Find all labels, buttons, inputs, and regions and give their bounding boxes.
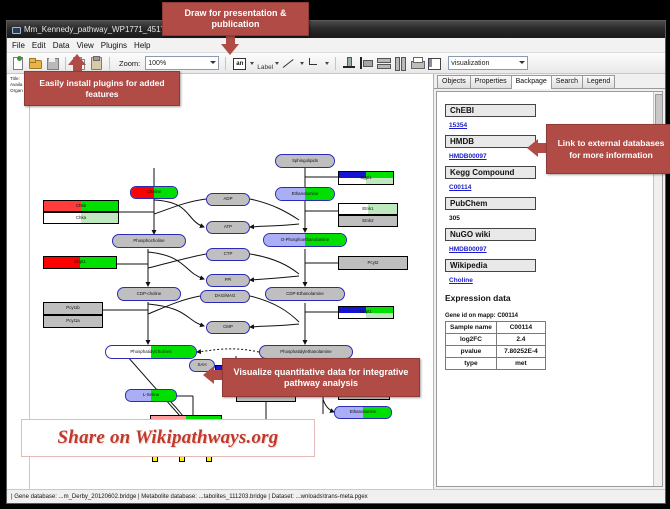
label-glyph: Label: [257, 64, 273, 71]
line-icon[interactable]: [282, 56, 296, 70]
node-label: Etnk1: [362, 207, 373, 211]
print-icon[interactable]: [410, 56, 424, 70]
menu-view[interactable]: View: [77, 41, 94, 50]
metabolite-node: Ethanolamine: [275, 187, 335, 201]
gene-node: Cept1: [338, 306, 394, 319]
gene-node: Etnk2: [338, 215, 398, 227]
save-icon[interactable]: [45, 56, 59, 70]
callout-text: Visualize quantitative data for integrat…: [228, 367, 414, 389]
menu-edit[interactable]: Edit: [32, 41, 46, 50]
db-link-nugo[interactable]: HMDB00097: [449, 246, 646, 253]
annotation-glyph: an: [233, 58, 246, 70]
metabolite-node: PPi: [206, 274, 250, 287]
menu-data[interactable]: Data: [53, 41, 70, 50]
gene-node: Chkb: [43, 200, 119, 212]
db-link-kegg[interactable]: C00114: [449, 184, 646, 191]
node-label: L-Serine: [143, 393, 160, 397]
node-label: Pcyt2: [368, 261, 379, 265]
node-label: DAG/MAG: [215, 294, 236, 298]
node-label: CMP: [223, 325, 233, 329]
chevron-down-icon[interactable]: [325, 62, 329, 65]
expr-value: C00114: [496, 322, 545, 334]
node-label: Cept1: [360, 310, 372, 314]
toggle-sidebar-icon[interactable]: [427, 56, 441, 70]
metabolite-node: Ethanolamine: [334, 406, 392, 419]
menu-help[interactable]: Help: [134, 41, 150, 50]
callout-text: Link to external databases for more info…: [551, 137, 670, 161]
callout-text: Share on Wikipathways.org: [58, 427, 279, 449]
node-label: CDP-choline: [137, 292, 162, 296]
node-label: Ethanolamine: [350, 410, 377, 414]
expression-table: Sample name C00114 log2FC 2.4 pvalue 7.8…: [445, 321, 546, 370]
callout-text: Draw for presentation & publication: [167, 8, 304, 30]
gene-node: Chpt1: [43, 256, 117, 269]
node-label: Ethanolamine: [292, 192, 319, 196]
tab-search[interactable]: Search: [551, 75, 583, 88]
expr-key: pvalue: [446, 346, 497, 358]
chevron-down-icon[interactable]: [300, 62, 304, 65]
label-icon[interactable]: Label: [257, 56, 271, 70]
tab-properties[interactable]: Properties: [470, 75, 512, 88]
callout-draw: Draw for presentation & publication: [162, 2, 309, 36]
db-header-chebi: ChEBI: [445, 104, 536, 117]
expression-data-header: Expression data: [445, 293, 646, 303]
screenshot-root: Mm_Kennedy_pathway_WP1771_45176.gpml Fil…: [0, 0, 670, 509]
metabolite-node: CDP-Ethanolamine: [265, 287, 345, 301]
tab-legend[interactable]: Legend: [582, 75, 615, 88]
node-label: Choline: [147, 190, 162, 194]
node-label: ATP: [224, 225, 232, 229]
node-label: CDP-Ethanolamine: [286, 292, 324, 296]
align-bottom-icon[interactable]: [342, 56, 356, 70]
callout-share: Share on Wikipathways.org: [21, 419, 315, 457]
table-row: pvalue 7.80252E-4: [446, 346, 546, 358]
db-header-hmdb: HMDB: [445, 135, 536, 148]
toolbar-separator: [109, 57, 110, 70]
node-label: Phosphatidylcholines: [130, 350, 171, 354]
table-row: Sample name C00114: [446, 322, 546, 334]
app-icon: [11, 25, 20, 34]
title-bar: Mm_Kennedy_pathway_WP1771_45176.gpml: [7, 21, 665, 38]
node-label: CTP: [224, 252, 233, 256]
toolbar-separator: [335, 57, 336, 70]
gene-node: Sgpl1: [338, 171, 394, 185]
node-label: Chka: [76, 216, 86, 220]
visualization-combo[interactable]: visualization: [448, 56, 528, 70]
expr-value: met: [496, 358, 545, 370]
menu-bar: File Edit Data View Plugins Help: [7, 38, 665, 53]
node-label: Pcyt1a: [66, 319, 79, 323]
elbow-connector-icon[interactable]: [307, 56, 321, 70]
callout-visualize: Visualize quantitative data for integrat…: [222, 358, 420, 397]
zoom-label: Zoom:: [119, 59, 140, 68]
toolbar-separator: [225, 57, 226, 70]
pathway-info-block: Title: Availa Organ: [10, 76, 23, 94]
chevron-down-icon: [519, 61, 525, 64]
callout-draw-pointer: [221, 44, 239, 55]
gene-node: Etnk1: [338, 203, 398, 215]
table-row: type met: [446, 358, 546, 370]
annotation-icon[interactable]: an: [232, 56, 246, 70]
menu-plugins[interactable]: Plugins: [101, 41, 127, 50]
metabolite-node: Phosphatidylethanolamine: [259, 345, 353, 359]
metabolite-node: ATP: [206, 221, 250, 234]
node-label: O-Phosphoethanolamine: [281, 238, 330, 242]
callout-visualize-pointer: [203, 366, 214, 384]
db-header-kegg: Kegg Compound: [445, 166, 536, 179]
expr-key: Sample name: [446, 322, 497, 334]
tab-backpage[interactable]: Backpage: [511, 75, 552, 89]
callout-links-pointer: [527, 139, 538, 157]
node-label: Etnk2: [362, 219, 373, 223]
db-value-pubchem: 305: [449, 215, 646, 222]
chevron-down-icon[interactable]: [275, 62, 279, 65]
callout-text: Easily install plugins for added feature…: [29, 78, 175, 100]
metabolite-node: Phosphatidylcholines: [105, 345, 197, 359]
callout-links: Link to external databases for more info…: [546, 124, 670, 174]
expr-key: log2FC: [446, 334, 497, 346]
db-header-nugo: NuGO wiki: [445, 228, 536, 241]
gene-node: Pcyt1b: [43, 302, 103, 315]
menu-file[interactable]: File: [12, 41, 25, 50]
gene-node: Pcyt1a: [43, 315, 103, 328]
metabolite-node: Phosphocholine: [112, 234, 186, 248]
align-left-icon[interactable]: [359, 56, 373, 70]
info-organism: Organ: [10, 88, 23, 94]
new-document-icon[interactable]: [11, 56, 25, 70]
node-label: ADP: [223, 197, 232, 201]
metabolite-node: CTP: [206, 248, 250, 261]
metabolite-node: O-Phosphoethanolamine: [263, 233, 347, 247]
gene-node: Chka: [43, 212, 119, 224]
metabolite-node: L-Serine: [125, 389, 177, 402]
zoom-value: 100%: [148, 60, 166, 67]
status-text: | Gene database: ...m_Derby_20120602.bri…: [11, 494, 368, 500]
metabolite-node: ADP: [206, 193, 250, 206]
toolbar-separator: [65, 57, 66, 70]
chevron-down-icon: [210, 61, 216, 64]
open-folder-icon[interactable]: [28, 56, 42, 70]
table-row: log2FC 2.4: [446, 334, 546, 346]
callout-plugins: Easily install plugins for added feature…: [24, 71, 180, 106]
node-label: Sgpl1: [360, 176, 371, 180]
node-label: Sphingolipids: [292, 159, 318, 163]
db-link-wikipedia[interactable]: Choline: [449, 277, 646, 284]
metabolite-node: CMP: [206, 321, 250, 334]
node-label: Chpt1: [74, 260, 86, 264]
metabolite-node: CDP-choline: [117, 287, 181, 301]
stack-horizontal-icon[interactable]: [393, 56, 407, 70]
node-label: PPi: [225, 278, 232, 282]
node-label: Phosphatidylethanolamine: [280, 350, 332, 354]
metabolite-node: Sphingolipids: [275, 154, 335, 168]
gene-node: Pcyt2: [338, 256, 408, 270]
visualization-value: visualization: [451, 60, 489, 67]
expr-value: 7.80252E-4: [496, 346, 545, 358]
side-panel-tabs: Objects Properties Backpage Search Legen…: [434, 74, 665, 89]
stack-vertical-icon[interactable]: [376, 56, 390, 70]
metabolite-node: DAG/MAG: [200, 290, 250, 303]
expr-value: 2.4: [496, 334, 545, 346]
node-label: Phosphocholine: [133, 239, 164, 243]
chevron-down-icon[interactable]: [250, 62, 254, 65]
tab-objects[interactable]: Objects: [437, 75, 471, 88]
metabolite-node: Choline: [130, 186, 178, 199]
db-header-pubchem: PubChem: [445, 197, 536, 210]
status-bar: | Gene database: ...m_Derby_20120602.bri…: [7, 489, 665, 503]
callout-plugins-pointer: [68, 54, 86, 65]
gene-id-line: Gene id on mapp: C00114: [445, 313, 646, 319]
zoom-combo[interactable]: 100%: [145, 56, 219, 70]
paste-icon[interactable]: [89, 56, 103, 70]
node-label: Pcyt1b: [66, 306, 79, 310]
db-header-wikipedia: Wikipedia: [445, 259, 536, 272]
node-label: Chkb: [76, 204, 86, 208]
expr-key: type: [446, 358, 497, 370]
